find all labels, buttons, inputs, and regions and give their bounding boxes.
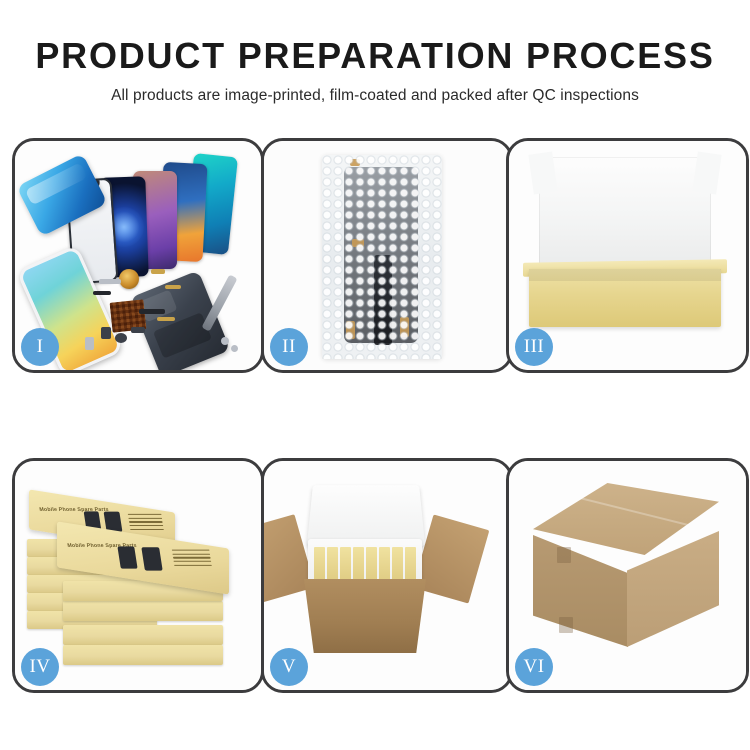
stacked-box <box>63 645 223 665</box>
small-part <box>115 333 127 343</box>
box-stack: Mobile Phone Spare Parts Mobi <box>27 479 245 679</box>
step-panel-2: II <box>261 138 513 373</box>
small-part <box>99 279 121 284</box>
carton-tape-tab <box>557 547 571 563</box>
small-part <box>131 327 145 333</box>
step-panel-5: V <box>261 458 513 693</box>
box-print-phone <box>117 546 137 568</box>
small-part <box>101 327 111 339</box>
box-print-lines <box>172 550 212 569</box>
carton-body <box>304 579 426 653</box>
bubble-texture <box>322 155 442 359</box>
step-panel-3: III <box>506 138 749 373</box>
product-preparation-infographic: PRODUCT PREPARATION PROCESS All products… <box>0 0 750 750</box>
page-title: PRODUCT PREPARATION PROCESS <box>0 38 750 74</box>
small-part <box>221 337 229 345</box>
stacked-box <box>63 601 223 621</box>
small-part <box>151 269 165 274</box>
small-part <box>165 285 181 289</box>
header: PRODUCT PREPARATION PROCESS All products… <box>0 0 750 105</box>
box-print-lines <box>128 514 164 533</box>
stacked-box <box>63 625 223 645</box>
step-badge-1: I <box>21 328 59 366</box>
carton-left-face <box>533 535 628 647</box>
step-panel-6: VI <box>506 458 749 693</box>
step-panel-1: I <box>12 138 264 373</box>
step-panel-4: Mobile Phone Spare Parts Mobi <box>12 458 264 693</box>
small-part <box>157 317 175 321</box>
process-step-grid: I II <box>12 138 738 680</box>
white-foam-lid <box>539 157 711 275</box>
page-subtitle: All products are image-printed, film-coa… <box>0 87 750 105</box>
step-badge-6: VI <box>515 648 553 686</box>
bubble-wrap-bag <box>322 155 442 359</box>
process-step-3: III <box>506 138 749 373</box>
step-badge-2: II <box>270 328 308 366</box>
process-step-5: V <box>261 458 513 693</box>
step-badge-5: V <box>270 648 308 686</box>
carton-tape-tab <box>559 617 573 633</box>
yellow-box-base <box>529 269 721 327</box>
step-badge-3: III <box>515 328 553 366</box>
box-print-phone <box>141 547 162 570</box>
small-part <box>139 309 165 314</box>
small-part <box>231 345 238 352</box>
small-part <box>93 291 111 295</box>
foam-box-lid <box>307 485 425 546</box>
process-step-4: Mobile Phone Spare Parts Mobi <box>12 458 264 693</box>
step-badge-4: IV <box>21 648 59 686</box>
small-part <box>85 337 94 350</box>
copper-coil-part <box>119 269 139 289</box>
process-step-1: I <box>12 138 264 373</box>
process-step-6: VI <box>506 458 749 693</box>
process-step-2: II <box>261 138 513 373</box>
